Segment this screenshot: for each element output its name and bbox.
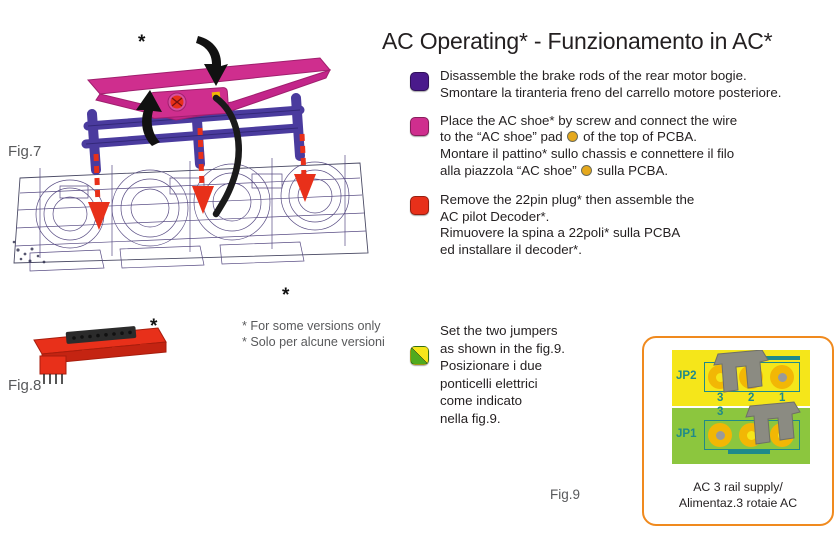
step3-it-line2: ed installare il decoder*. xyxy=(440,242,694,259)
step-marker-yellow-green xyxy=(410,346,429,365)
steps-list: Disassemble the brake rods of the rear m… xyxy=(410,68,838,268)
jumper-diagram: JP2 3 2 1 JP1 3 xyxy=(672,350,810,466)
step3-en-line2: AC pilot Decoder*. xyxy=(440,209,694,226)
figure-9-panel: JP2 3 2 1 JP1 3 xyxy=(642,336,834,526)
version-note-en: * For some versions only xyxy=(242,318,385,334)
step4-en-line1: Set the two jumpers xyxy=(440,322,615,340)
step-disassemble-brake-rods: Disassemble the brake rods of the rear m… xyxy=(410,68,838,102)
step2-it-line2b: sulla PCBA. xyxy=(597,163,668,178)
step4-it-line1: Posizionare i due xyxy=(440,357,615,375)
jp1-label: JP1 xyxy=(676,428,696,440)
instructions-column: AC Operating* - Funzionamento in AC* Dis… xyxy=(382,22,838,522)
fig9-caption: AC 3 rail supply/ Alimentaz.3 rotaie AC xyxy=(644,479,832,511)
step2-en-line2b: of the top of PCBA. xyxy=(583,129,697,144)
jp1-pin-1 xyxy=(770,423,794,447)
jp1-trace xyxy=(728,450,770,454)
pcb-pad-icon xyxy=(567,131,578,142)
instruction-sheet: Fig.7 * xyxy=(0,0,838,544)
step-marker-purple xyxy=(410,72,429,91)
step3-en-line1: Remove the 22pin plug* then assemble the xyxy=(440,192,694,209)
jp2-num-1: 1 xyxy=(779,392,785,404)
version-note: * For some versions only * Solo per alcu… xyxy=(242,318,385,350)
step-place-ac-shoe: Place the AC shoe* by screw and connect … xyxy=(410,113,838,180)
step1-it: Smontare la tiranteria freno del carrell… xyxy=(440,85,781,102)
fig8-asterisk-decoder: * xyxy=(282,285,289,307)
step2-en-line2: to the “AC shoe” pad of the top of PCBA. xyxy=(440,129,737,146)
fig9-caption-en: AC 3 rail supply/ xyxy=(644,479,832,495)
jp1-pin-2 xyxy=(739,423,763,447)
step2-it-line2a: alla piazzola “AC shoe” xyxy=(440,163,577,178)
fig7-label: Fig.7 xyxy=(8,143,41,160)
step4-it-line4: nella fig.9. xyxy=(440,410,615,428)
pcb-pad-icon xyxy=(581,165,592,176)
fig7-asterisk: * xyxy=(138,32,145,54)
step4-en-line2: as shown in the fig.9. xyxy=(440,340,615,358)
step-remove-22pin-plug: Remove the 22pin plug* then assemble the… xyxy=(410,192,838,259)
step-marker-magenta xyxy=(410,117,429,136)
figure-7: Fig.7 * xyxy=(0,18,382,280)
jp2-pin-3 xyxy=(708,365,732,389)
step2-en-line1: Place the AC shoe* by screw and connect … xyxy=(440,113,737,130)
step2-it-line2: alla piazzola “AC shoe” sulla PCBA. xyxy=(440,163,737,180)
page-title: AC Operating* - Funzionamento in AC* xyxy=(382,28,772,55)
jp2-label: JP2 xyxy=(676,370,696,382)
step1-en: Disassemble the brake rods of the rear m… xyxy=(440,68,781,85)
fig9-caption-it: Alimentaz.3 rotaie AC xyxy=(644,495,832,511)
step2-en-line2a: to the “AC shoe” pad xyxy=(440,129,563,144)
jp1-pin-3 xyxy=(708,423,732,447)
step4-it-line3: come indicato xyxy=(440,392,615,410)
step2-it-line1: Montare il pattino* sullo chassis e conn… xyxy=(440,146,737,163)
jp2-num-2: 2 xyxy=(748,392,754,404)
jp2-pin-1 xyxy=(770,365,794,389)
jumper-instruction-text: Set the two jumpers as shown in the fig.… xyxy=(440,322,615,427)
jp1-num-3: 3 xyxy=(717,406,723,418)
fig9-label: Fig.9 xyxy=(550,487,580,502)
jp2-pin-2 xyxy=(739,365,763,389)
version-note-it: * Solo per alcune versioni xyxy=(242,334,385,350)
step3-it-line1: Rimuovere la spina a 22poli* sulla PCBA xyxy=(440,225,694,242)
fig7-illustration xyxy=(0,18,382,280)
fig8-label: Fig.8 xyxy=(8,377,41,394)
step-set-jumpers-block: Set the two jumpers as shown in the fig.… xyxy=(410,322,838,427)
fig8-asterisk-plug: * xyxy=(150,316,157,338)
step-marker-red xyxy=(410,196,429,215)
step4-it-line2: ponticelli elettrici xyxy=(440,375,615,393)
jp2-num-3: 3 xyxy=(717,392,723,404)
jp2-trace xyxy=(758,356,800,360)
